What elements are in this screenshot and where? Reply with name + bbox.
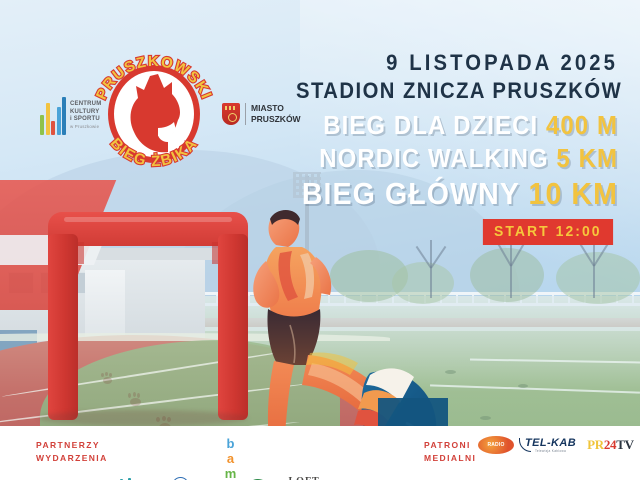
loft-label: LOFT bbox=[289, 476, 320, 480]
ckis-logo[interactable]: CENTRUM KULTURY i SPORTU w Pruszkowie bbox=[40, 88, 106, 142]
ckis-line1: CENTRUM bbox=[70, 101, 101, 109]
partners-label-line1: PARTNERZY bbox=[36, 439, 108, 452]
telkab-sub: Telewizja Kablowa bbox=[535, 449, 566, 453]
media-logos: RADIO TEL-KAB Telewizja Kablowa PR24TV bbox=[478, 436, 634, 454]
arch-highlight bbox=[64, 217, 232, 222]
field-blob bbox=[518, 384, 528, 388]
event-logo-badge[interactable]: PRUSZKOWSKI BIEG ŻBIKA bbox=[92, 36, 216, 180]
race-distance-1: 400 M bbox=[546, 110, 618, 140]
ckis-text: CENTRUM KULTURY i SPORTU w Pruszkowie bbox=[70, 101, 101, 129]
inflatable-start-arch bbox=[48, 212, 248, 420]
pr24-part1: PR bbox=[587, 437, 604, 452]
race-distance-2: 5 KM bbox=[556, 143, 618, 173]
race-row-1: BIEG DLA DZIECI 400 M bbox=[296, 110, 618, 141]
media-label: PATRONI MEDIALNI bbox=[424, 439, 476, 465]
partners-label-line2: WYDARZENIA bbox=[36, 452, 108, 465]
ckis-line2: KULTURY bbox=[70, 109, 101, 117]
event-date: 9 LISTOPADA 2025 bbox=[296, 50, 618, 76]
media-logo-telkab[interactable]: TEL-KAB Telewizja Kablowa bbox=[525, 437, 576, 453]
ckis-sub: w Pruszkowie bbox=[70, 124, 101, 130]
media-label-line1: PATRONI bbox=[424, 439, 476, 452]
partner-logo-bambino[interactable]: bambino bbox=[225, 436, 236, 480]
race-name-2: NORDIC WALKING bbox=[319, 143, 548, 173]
telkab-label: TEL-KAB bbox=[525, 437, 576, 449]
arch-shadow bbox=[38, 410, 248, 426]
race-row-2: NORDIC WALKING 5 KM bbox=[296, 143, 618, 174]
media-label-line2: MEDIALNI bbox=[424, 452, 476, 465]
bambino-letter: m bbox=[225, 466, 236, 480]
bambino-letter: a bbox=[227, 451, 234, 466]
pr24-part2: 24 bbox=[604, 437, 616, 452]
bambino-letter: b bbox=[227, 436, 235, 451]
field-blob bbox=[480, 416, 491, 420]
start-time-badge: START 12:00 bbox=[483, 219, 613, 245]
race-name-1: BIEG DLA DZIECI bbox=[323, 110, 538, 140]
footer-bar: PARTNERZY WYDARZENIA TBS 2 Zakład Wodoci… bbox=[0, 426, 640, 480]
coat-of-arms-icon bbox=[222, 103, 240, 125]
pr24-part3: TV bbox=[616, 437, 633, 452]
media-logo-radio[interactable]: RADIO bbox=[478, 436, 514, 454]
partner-logo-loft[interactable]: LOFT Food & Music LOFT BAR PRUSZKÓW bbox=[280, 476, 328, 480]
media-logo-pr24tv[interactable]: PR24TV bbox=[587, 437, 634, 453]
race-poster: PRUSZKOWSKI BIEG ŻBIKA CENTRUM KULTURY i… bbox=[0, 0, 640, 480]
race-distance-3: 10 KM bbox=[528, 176, 618, 211]
ckis-bars-icon bbox=[40, 95, 66, 135]
partner-logos: TBS 2 Zakład Wodociągów i Kanalizacji w … bbox=[110, 436, 328, 480]
telkab-swoosh-icon bbox=[519, 438, 531, 452]
event-venue: STADION ZNICZA PRUSZKÓW bbox=[296, 78, 618, 104]
arch-leg-right bbox=[218, 234, 248, 420]
arch-leg-left bbox=[48, 234, 78, 420]
partners-label: PARTNERZY WYDARZENIA bbox=[36, 439, 108, 465]
ckis-line3: i SPORTU bbox=[70, 116, 101, 124]
